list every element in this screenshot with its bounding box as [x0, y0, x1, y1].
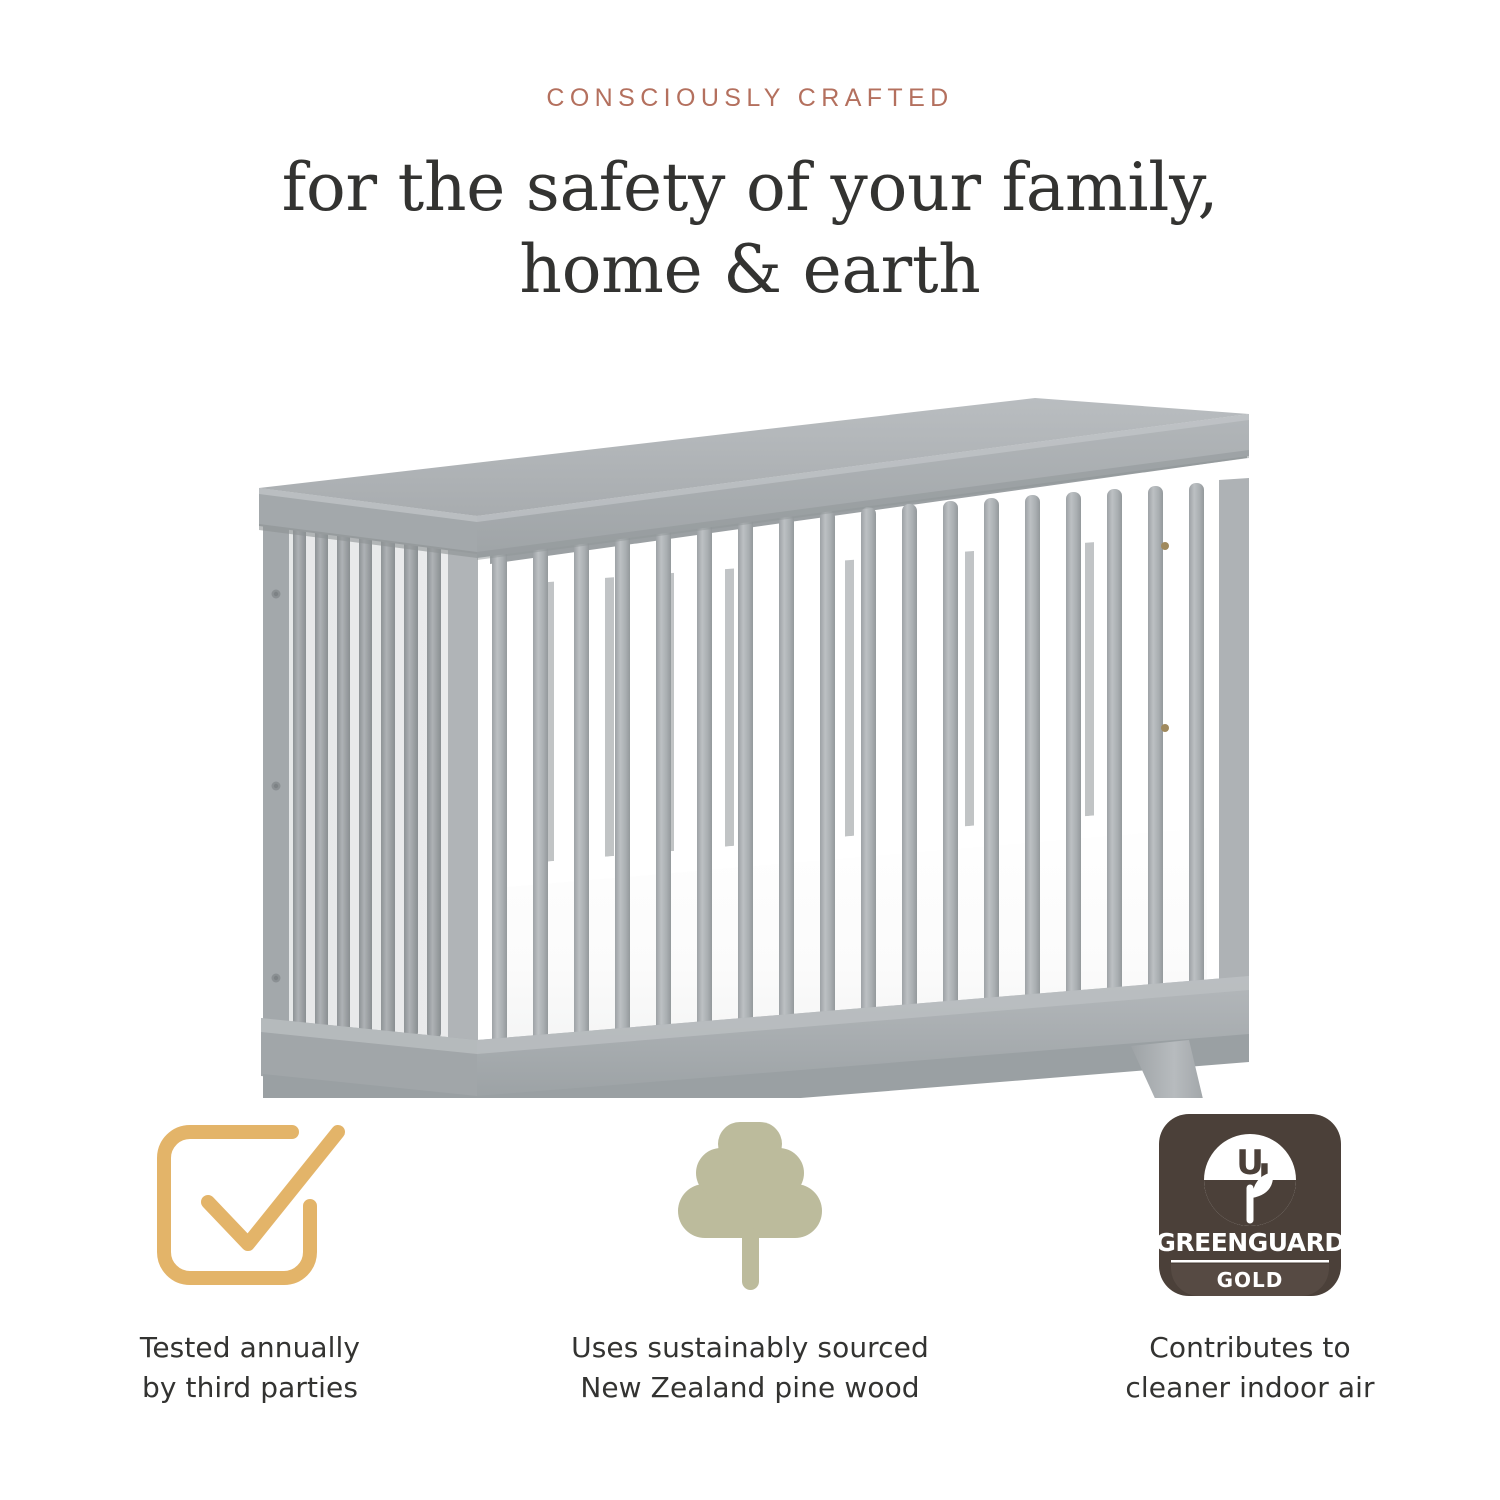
header: CONSCIOUSLY CRAFTED for the safety of yo…: [0, 86, 1500, 311]
features-row: Tested annually by third parties: [0, 1110, 1500, 1408]
feature-caption: Contributes to cleaner indoor air: [1125, 1328, 1374, 1408]
greenguard-gold-badge-icon: U L GREENGUARD GOLD: [1157, 1110, 1343, 1300]
feature-caption: Tested annually by third parties: [140, 1328, 360, 1408]
marketing-page: CONSCIOUSLY CRAFTED for the safety of yo…: [0, 0, 1500, 1500]
crib-top-rail: [259, 398, 1249, 560]
feature-tested-annually: Tested annually by third parties: [0, 1110, 500, 1408]
tree-icon: [660, 1110, 840, 1300]
feature-greenguard-gold: U L GREENGUARD GOLD Contributes to clean…: [1000, 1110, 1500, 1408]
greenguard-wordmark: GREENGUARD: [1157, 1228, 1343, 1257]
eyebrow-text: CONSCIOUSLY CRAFTED: [0, 86, 1500, 111]
feature-caption: Uses sustainably sourced New Zealand pin…: [571, 1328, 929, 1408]
checkbox-check-icon: [142, 1110, 358, 1300]
headline-line-2: home & earth: [0, 229, 1500, 311]
crib-left-end-panel: [263, 502, 478, 1058]
page-title: for the safety of your family, home & ea…: [0, 147, 1500, 311]
headline-line-1: for the safety of your family,: [282, 149, 1219, 226]
product-image-crib: [245, 398, 1295, 1098]
feature-sustainable-wood: Uses sustainably sourced New Zealand pin…: [500, 1110, 1000, 1408]
crib-illustration: [245, 398, 1295, 1098]
gold-tier-text: GOLD: [1217, 1268, 1284, 1292]
